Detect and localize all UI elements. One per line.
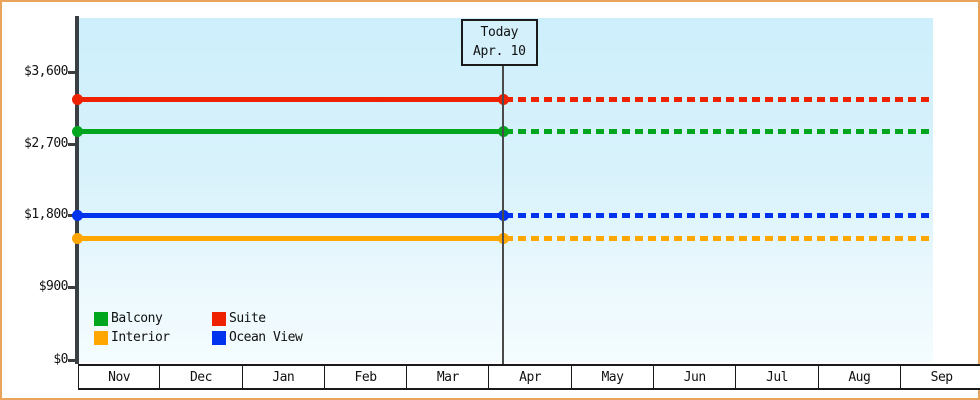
- legend-swatch-ocean-view-icon: [212, 331, 226, 345]
- series-point-suite-today: [72, 94, 83, 105]
- legend-item-balcony[interactable]: Balcony: [94, 312, 198, 326]
- legend-label-interior: Interior: [111, 331, 170, 345]
- y-tick-mark-2700: [68, 143, 76, 146]
- x-axis-month-row: Nov Dec Jan Feb Mar Apr May Jun Jul Aug …: [78, 364, 980, 390]
- legend-swatch-suite-icon: [212, 312, 226, 326]
- today-vertical-line: [502, 60, 504, 364]
- y-tick-mark-900: [68, 286, 76, 289]
- chart-legend: Balcony Suite Interior Ocean View: [94, 312, 302, 345]
- x-axis-month-jul[interactable]: Jul: [736, 366, 818, 388]
- series-line-ocean-view-actual: [78, 213, 505, 218]
- plot-area: [78, 18, 933, 362]
- today-label: Today: [473, 23, 526, 42]
- x-axis-month-dec[interactable]: Dec: [160, 366, 242, 388]
- series-line-suite-forecast: [505, 97, 933, 102]
- legend-label-ocean-view: Ocean View: [229, 331, 302, 345]
- series-line-interior-actual: [78, 236, 505, 241]
- legend-swatch-balcony-icon: [94, 312, 108, 326]
- series-line-ocean-view-forecast: [505, 213, 933, 218]
- series-point-ocean-view-start: [72, 210, 83, 221]
- x-axis-month-mar[interactable]: Mar: [407, 366, 489, 388]
- y-tick-mark-3600: [68, 71, 76, 74]
- chart-container: $3,600 $2,700 $1,800 $900 $0 Today Apr. …: [0, 0, 980, 400]
- y-tick-label-2700: $2,700: [6, 136, 68, 151]
- series-point-balcony-start: [72, 126, 83, 137]
- series-line-interior-forecast: [505, 236, 933, 241]
- series-line-suite-actual: [78, 97, 505, 102]
- legend-item-interior[interactable]: Interior: [94, 331, 198, 345]
- x-axis-month-feb[interactable]: Feb: [325, 366, 407, 388]
- legend-item-suite[interactable]: Suite: [212, 312, 302, 326]
- x-axis-month-may[interactable]: May: [572, 366, 654, 388]
- x-axis-month-aug[interactable]: Aug: [819, 366, 901, 388]
- y-tick-mark-0: [68, 359, 76, 362]
- today-date: Apr. 10: [473, 42, 526, 61]
- x-axis-month-nov[interactable]: Nov: [78, 366, 160, 388]
- y-axis-line: [75, 16, 79, 364]
- y-tick-label-0: $0: [6, 352, 68, 367]
- x-axis-month-jun[interactable]: Jun: [654, 366, 736, 388]
- y-tick-label-3600: $3,600: [6, 64, 68, 79]
- series-line-balcony-actual: [78, 129, 505, 134]
- x-axis-month-sep[interactable]: Sep: [901, 366, 980, 388]
- x-axis-month-apr[interactable]: Apr: [489, 366, 571, 388]
- series-line-balcony-forecast: [505, 129, 933, 134]
- legend-label-balcony: Balcony: [111, 312, 162, 326]
- series-point-interior-start: [72, 233, 83, 244]
- legend-item-ocean-view[interactable]: Ocean View: [212, 331, 302, 345]
- y-tick-label-900: $900: [6, 279, 68, 294]
- today-annotation-box: Today Apr. 10: [461, 19, 538, 66]
- legend-swatch-interior-icon: [94, 331, 108, 345]
- legend-label-suite: Suite: [229, 312, 266, 326]
- y-tick-label-1800: $1,800: [6, 207, 68, 222]
- x-axis-month-jan[interactable]: Jan: [243, 366, 325, 388]
